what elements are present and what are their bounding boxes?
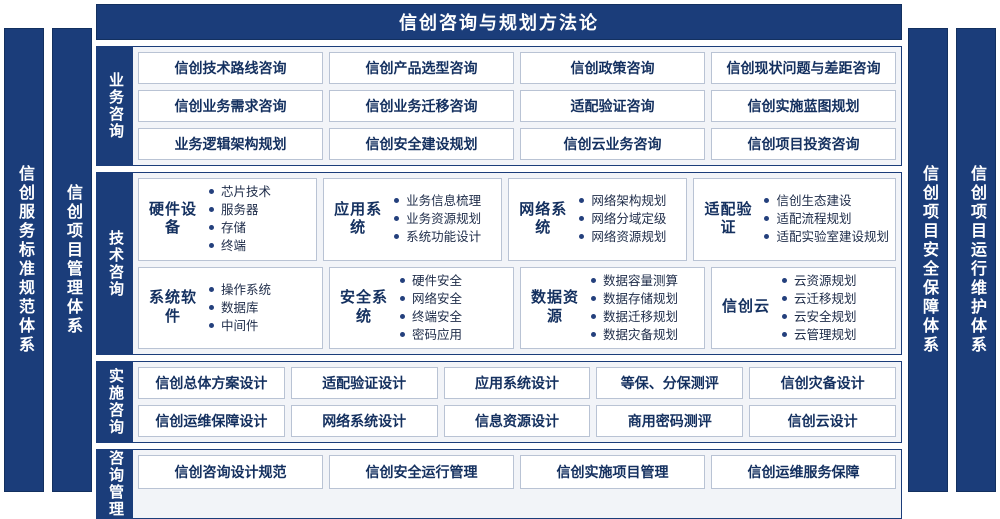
card-list-item: 业务信息梳理 xyxy=(394,192,481,210)
pillar-service-standard: 信创服务标准规范体系 xyxy=(4,28,44,492)
item-box[interactable]: 信创实施项目管理 xyxy=(520,455,705,489)
card-list-item: 终端安全 xyxy=(400,308,462,326)
card-list-item: 云安全规划 xyxy=(782,308,857,326)
card-list: 网络架构规划 网络分域定级 网络资源规划 xyxy=(571,192,666,246)
item-box[interactable]: 信创云设计 xyxy=(749,405,896,437)
item-box[interactable]: 信创运维服务保障 xyxy=(711,455,896,489)
section-business-consulting: 业务咨询 信创技术路线咨询 信创产品选型咨询 信创政策咨询 信创现状问题与差距咨… xyxy=(96,46,902,166)
row: 信创技术路线咨询 信创产品选型咨询 信创政策咨询 信创现状问题与差距咨询 xyxy=(138,52,896,84)
section-label-technical: 技术咨询 xyxy=(97,173,133,354)
section-body-business: 信创技术路线咨询 信创产品选型咨询 信创政策咨询 信创现状问题与差距咨询 信创业… xyxy=(133,47,901,165)
item-box[interactable]: 信创业务需求咨询 xyxy=(138,90,323,122)
card-system-software[interactable]: 系统软件 操作系统 数据库 中间件 xyxy=(138,267,323,350)
row: 信创运维保障设计 网络系统设计 信息资源设计 商用密码测评 信创云设计 xyxy=(138,405,896,437)
card-list-item: 存储 xyxy=(209,219,271,237)
pillar-security-guarantee: 信创项目安全保障体系 xyxy=(908,28,948,492)
card-list-item: 业务资源规划 xyxy=(394,210,481,228)
diagram-root: 信创服务标准规范体系 信创项目管理体系 信创项目安全保障体系 信创项目运行维护体… xyxy=(0,0,1000,496)
card-list-item: 操作系统 xyxy=(209,281,271,299)
item-box[interactable]: 信创产品选型咨询 xyxy=(329,52,514,84)
item-box[interactable]: 信创现状问题与差距咨询 xyxy=(711,52,896,84)
section-implementation-consulting: 实施咨询 信创总体方案设计 适配验证设计 应用系统设计 等保、分保测评 信创灾备… xyxy=(96,361,902,443)
card-adaptation-verification[interactable]: 适配验证 信创生态建设 适配流程规划 适配实验室建设规划 xyxy=(693,178,896,261)
row: 信创总体方案设计 适配验证设计 应用系统设计 等保、分保测评 信创灾备设计 xyxy=(138,367,896,399)
card-list-item: 网络架构规划 xyxy=(579,192,666,210)
section-body-management: 信创咨询设计规范 信创安全运行管理 信创实施项目管理 信创运维服务保障 xyxy=(133,450,901,518)
section-label-management: 咨询管理 xyxy=(97,450,133,518)
section-label-business: 业务咨询 xyxy=(97,47,133,165)
card-list-item: 芯片技术 xyxy=(209,183,271,201)
card-list-item: 服务器 xyxy=(209,201,271,219)
card-xinchuang-cloud[interactable]: 信创云 云资源规划 云迁移规划 云安全规划 云管理规划 xyxy=(711,267,896,350)
pillar-operation-maintenance: 信创项目运行维护体系 xyxy=(956,28,996,492)
card-list-item: 数据存储规划 xyxy=(591,290,678,308)
card-title: 系统软件 xyxy=(145,289,201,327)
card-list-item: 终端 xyxy=(209,237,271,255)
card-list: 硬件安全 网络安全 终端安全 密码应用 xyxy=(392,272,462,345)
card-list-item: 数据库 xyxy=(209,299,271,317)
card-list-item: 数据迁移规划 xyxy=(591,308,678,326)
section-label-implementation: 实施咨询 xyxy=(97,362,133,442)
item-box[interactable]: 应用系统设计 xyxy=(444,367,591,399)
card-title: 应用系统 xyxy=(330,201,386,239)
row: 信创业务需求咨询 信创业务迁移咨询 适配验证咨询 信创实施蓝图规划 xyxy=(138,90,896,122)
card-list-item: 网络分域定级 xyxy=(579,210,666,228)
item-box[interactable]: 信创咨询设计规范 xyxy=(138,455,323,489)
item-box[interactable]: 适配验证设计 xyxy=(291,367,438,399)
card-list-item: 网络资源规划 xyxy=(579,228,666,246)
card-title: 硬件设备 xyxy=(145,201,201,239)
item-box[interactable]: 适配验证咨询 xyxy=(520,90,705,122)
item-box[interactable]: 信创总体方案设计 xyxy=(138,367,285,399)
pillar-project-management: 信创项目管理体系 xyxy=(52,28,92,492)
item-box[interactable]: 信创实施蓝图规划 xyxy=(711,90,896,122)
card-list-item: 适配实验室建设规划 xyxy=(764,228,889,246)
card-security-system[interactable]: 安全系统 硬件安全 网络安全 终端安全 密码应用 xyxy=(329,267,514,350)
card-list-item: 数据灾备规划 xyxy=(591,326,678,344)
card-list: 数据容量测算 数据存储规划 数据迁移规划 数据灾备规划 xyxy=(583,272,678,345)
card-data-resource[interactable]: 数据资源 数据容量测算 数据存储规划 数据迁移规划 数据灾备规划 xyxy=(520,267,705,350)
card-network-system[interactable]: 网络系统 网络架构规划 网络分域定级 网络资源规划 xyxy=(508,178,687,261)
card-list-item: 系统功能设计 xyxy=(394,228,481,246)
item-box[interactable]: 信创安全运行管理 xyxy=(329,455,514,489)
card-title: 数据资源 xyxy=(527,289,583,327)
item-box[interactable]: 信创业务迁移咨询 xyxy=(329,90,514,122)
item-box[interactable]: 信创运维保障设计 xyxy=(138,405,285,437)
item-box[interactable]: 信息资源设计 xyxy=(444,405,591,437)
item-box[interactable]: 信创项目投资咨询 xyxy=(711,128,896,160)
card-list-item: 硬件安全 xyxy=(400,272,462,290)
item-box[interactable]: 信创云业务咨询 xyxy=(520,128,705,160)
card-list-item: 密码应用 xyxy=(400,326,462,344)
row: 系统软件 操作系统 数据库 中间件 安全系统 硬件安全 网络安全 终端安全 xyxy=(138,267,896,350)
card-list: 操作系统 数据库 中间件 xyxy=(201,281,271,335)
card-application-system[interactable]: 应用系统 业务信息梳理 业务资源规划 系统功能设计 xyxy=(323,178,502,261)
card-list-item: 云迁移规划 xyxy=(782,290,857,308)
item-box[interactable]: 信创技术路线咨询 xyxy=(138,52,323,84)
row: 信创咨询设计规范 信创安全运行管理 信创实施项目管理 信创运维服务保障 xyxy=(138,455,896,489)
card-title: 安全系统 xyxy=(336,289,392,327)
section-body-technical: 硬件设备 芯片技术 服务器 存储 终端 应用系统 业务信息梳理 业务资源规划 xyxy=(133,173,901,354)
card-list-item: 信创生态建设 xyxy=(764,192,889,210)
diagram-title: 信创咨询与规划方法论 xyxy=(96,4,902,40)
card-title: 信创云 xyxy=(718,298,774,317)
main-panel: 信创咨询与规划方法论 业务咨询 信创技术路线咨询 信创产品选型咨询 信创政策咨询… xyxy=(96,4,902,492)
card-list-item: 中间件 xyxy=(209,317,271,335)
card-list: 芯片技术 服务器 存储 终端 xyxy=(201,183,271,256)
card-list-item: 云资源规划 xyxy=(782,272,857,290)
item-box[interactable]: 信创政策咨询 xyxy=(520,52,705,84)
card-list-item: 适配流程规划 xyxy=(764,210,889,228)
card-list-item: 云管理规划 xyxy=(782,326,857,344)
card-list-item: 数据容量测算 xyxy=(591,272,678,290)
card-list: 云资源规划 云迁移规划 云安全规划 云管理规划 xyxy=(774,272,857,345)
card-title: 适配验证 xyxy=(700,201,756,239)
row: 硬件设备 芯片技术 服务器 存储 终端 应用系统 业务信息梳理 业务资源规划 xyxy=(138,178,896,261)
card-hardware[interactable]: 硬件设备 芯片技术 服务器 存储 终端 xyxy=(138,178,317,261)
row: 业务逻辑架构规划 信创安全建设规划 信创云业务咨询 信创项目投资咨询 xyxy=(138,128,896,160)
section-technical-consulting: 技术咨询 硬件设备 芯片技术 服务器 存储 终端 应用系统 xyxy=(96,172,902,355)
card-list: 信创生态建设 适配流程规划 适配实验室建设规划 xyxy=(756,192,889,246)
card-list: 业务信息梳理 业务资源规划 系统功能设计 xyxy=(386,192,481,246)
item-box[interactable]: 业务逻辑架构规划 xyxy=(138,128,323,160)
item-box[interactable]: 信创灾备设计 xyxy=(749,367,896,399)
card-title: 网络系统 xyxy=(515,201,571,239)
item-box[interactable]: 商用密码测评 xyxy=(596,405,743,437)
item-box[interactable]: 等保、分保测评 xyxy=(596,367,743,399)
section-consulting-management: 咨询管理 信创咨询设计规范 信创安全运行管理 信创实施项目管理 信创运维服务保障 xyxy=(96,449,902,519)
item-box[interactable]: 信创安全建设规划 xyxy=(329,128,514,160)
section-body-implementation: 信创总体方案设计 适配验证设计 应用系统设计 等保、分保测评 信创灾备设计 信创… xyxy=(133,362,901,442)
item-box[interactable]: 网络系统设计 xyxy=(291,405,438,437)
card-list-item: 网络安全 xyxy=(400,290,462,308)
